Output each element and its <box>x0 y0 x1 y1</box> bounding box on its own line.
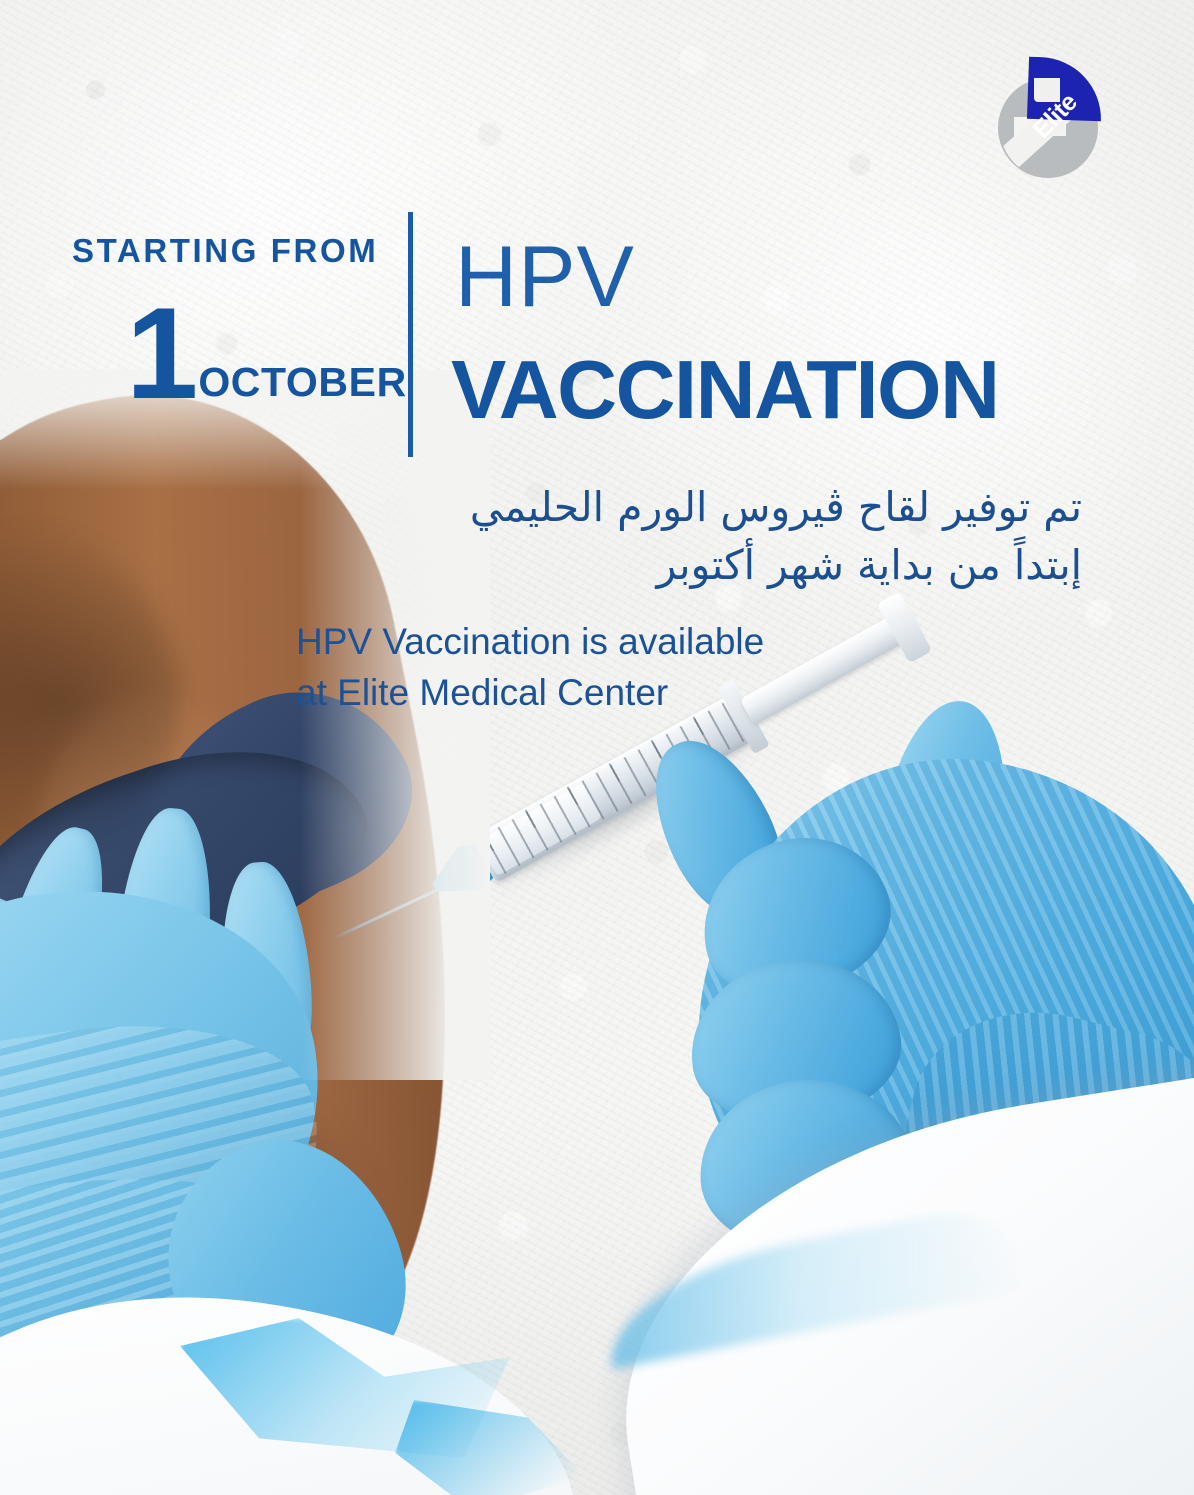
english-line-1: HPV Vaccination is available <box>296 616 764 667</box>
starting-from-label: STARTING FROM <box>72 232 378 270</box>
poster-canvas: Elite STARTING FROM 1 OCTOBER HPV VACCIN… <box>0 0 1194 1495</box>
arabic-body-text: تم توفير لقاح ڤيروس الورم الحليمي إبتداً… <box>382 478 1082 594</box>
start-date-day: 1 <box>126 300 194 407</box>
vertical-divider <box>408 212 413 457</box>
vaccination-photo <box>0 0 1194 1495</box>
start-date-month: OCTOBER <box>198 359 406 406</box>
headline-line-1: HPV <box>455 234 635 320</box>
arabic-line-2: إبتداً من بداية شهر أكتوبر <box>382 536 1082 594</box>
elite-medical-center-logo: Elite <box>994 58 1106 170</box>
arabic-line-1: تم توفير لقاح ڤيروس الورم الحليمي <box>382 478 1082 536</box>
english-body-text: HPV Vaccination is available at Elite Me… <box>296 616 764 718</box>
english-line-2: at Elite Medical Center <box>296 667 764 718</box>
headline-line-2: VACCINATION <box>451 348 999 431</box>
start-date: 1 OCTOBER <box>126 300 407 408</box>
